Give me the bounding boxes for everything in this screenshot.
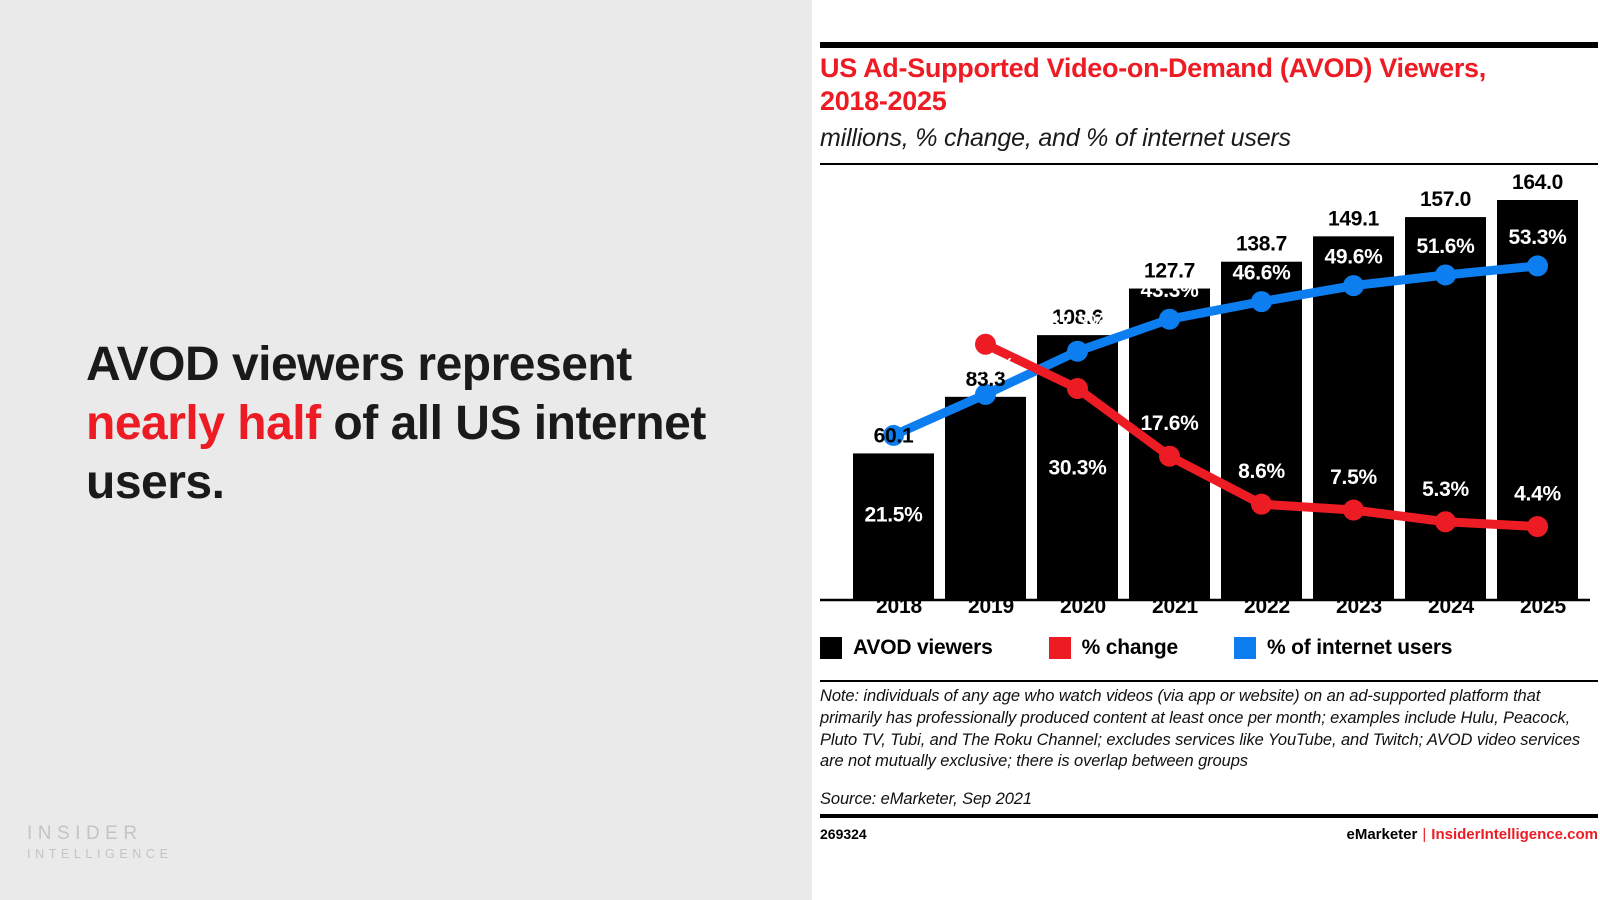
bar-value-label-2022: 138.7 [1236,233,1287,256]
infographic-canvas: AVOD viewers represent nearly half of al… [0,0,1600,900]
legend-item-pct_change[interactable]: % change [1049,636,1178,660]
logo-line-intelligence: INTELLIGENCE [27,846,173,862]
footer-branding: eMarketer|InsiderIntelligence.com [1346,826,1598,843]
pct-internet-users-point-2022 [1251,291,1272,312]
pct-internet-users-label-2023: 49.6% [1324,246,1383,269]
pct-internet-users-label-2020: 37.3% [1048,311,1107,334]
legend-swatch-pct_change [1049,637,1071,659]
pct-internet-users-point-2021 [1159,309,1180,330]
bar-value-label-2018: 60.1 [874,424,914,447]
chart-source: Source: eMarketer, Sep 2021 [820,789,1592,811]
pct-change-label-2020: 30.3% [1048,457,1107,480]
legend-item-pct_internet_users[interactable]: % of internet users [1234,636,1452,660]
chart-id: 269324 [820,826,867,842]
pct-change-label-2021: 17.6% [1140,412,1199,435]
chart-plot-area: 60.183.3108.6127.7138.7149.1157.0164.021… [812,160,1600,630]
headline-highlight: nearly half [86,397,321,450]
insider-intelligence-logo: INSIDER INTELLIGENCE [27,822,173,862]
pct-internet-users-point-2025 [1527,255,1548,276]
x-axis-tick-2019: 2019 [945,595,1037,619]
pct-change-point-2025 [1527,516,1548,537]
chart-note: Note: individuals of any age who watch v… [820,686,1592,773]
pct-internet-users-point-2023 [1343,275,1364,296]
pct-change-point-2023 [1343,500,1364,521]
pct-internet-users-label-2021: 43.3% [1140,279,1199,302]
divider-footer [820,814,1598,818]
pct-internet-users-label-2024: 51.6% [1416,235,1475,258]
chart-panel: US Ad-Supported Video-on-Demand (AVOD) V… [812,0,1600,900]
bar-2022 [1221,262,1302,600]
bar-2018 [853,453,934,600]
pct-change-point-2022 [1251,494,1272,515]
pct-change-point-2020 [1067,378,1088,399]
legend-label-avod_viewers: AVOD viewers [853,636,993,660]
legend-swatch-avod_viewers [820,637,842,659]
footer-website-link[interactable]: InsiderIntelligence.com [1431,826,1598,843]
bar-value-label-2025: 164.0 [1512,171,1563,194]
pct-change-label-2022: 8.6% [1238,460,1285,483]
footer-separator: | [1422,826,1426,843]
x-axis-labels: 20182019202020212022202320242025 [812,595,1600,631]
divider-above-note [820,680,1598,682]
pct-internet-users-point-2024 [1435,264,1456,285]
bar-2021 [1129,289,1210,600]
pct-internet-users-label-2018: 21.5% [864,503,923,526]
pct-change-point-2024 [1435,511,1456,532]
divider-top [820,42,1598,48]
pct-change-point-2021 [1159,446,1180,467]
x-axis-tick-2023: 2023 [1313,595,1405,619]
pct-internet-users-label-2019: 29.2% [956,354,1015,377]
x-axis-tick-2020: 2020 [1037,595,1129,619]
legend-label-pct_internet_users: % of internet users [1267,636,1452,660]
pct-change-label-2023: 7.5% [1330,466,1377,489]
chart-footer: 269324 eMarketer|InsiderIntelligence.com [820,820,1598,848]
page-title: AVOD viewers represent nearly half of al… [86,335,746,512]
bar-series-group [853,200,1578,600]
logo-line-insider: INSIDER [27,822,173,846]
pct-change-label-2019: 38.6% [956,300,1015,323]
bar-value-label-2024: 157.0 [1420,188,1471,211]
chart-svg: 60.183.3108.6127.7138.7149.1157.0164.021… [812,160,1600,630]
pct-change-label-2024: 5.3% [1422,478,1469,501]
x-axis-tick-2025: 2025 [1497,595,1589,619]
legend-swatch-pct_internet_users [1234,637,1256,659]
chart-title: US Ad-Supported Video-on-Demand (AVOD) V… [820,52,1520,118]
pct-change-point-2019 [975,334,996,355]
chart-subtitle: millions, % change, and % of internet us… [820,124,1560,153]
x-axis-tick-2018: 2018 [853,595,945,619]
x-axis-tick-2024: 2024 [1405,595,1497,619]
legend-label-pct_change: % change [1082,636,1178,660]
x-axis-tick-2021: 2021 [1129,595,1221,619]
pct-change-label-2025: 4.4% [1514,483,1561,506]
footer-brand-name: eMarketer [1346,826,1417,843]
pct-internet-users-label-2022: 46.6% [1232,262,1291,285]
x-axis-tick-2022: 2022 [1221,595,1313,619]
headline-text-1: AVOD viewers represent [86,338,632,391]
left-panel: AVOD viewers represent nearly half of al… [0,0,812,900]
pct-internet-users-label-2025: 53.3% [1508,226,1567,249]
pct-internet-users-point-2020 [1067,341,1088,362]
legend-item-avod_viewers[interactable]: AVOD viewers [820,636,993,660]
chart-legend: AVOD viewers% change% of internet users [820,636,1508,660]
bar-value-label-2023: 149.1 [1328,207,1380,230]
bar-2019 [945,397,1026,600]
